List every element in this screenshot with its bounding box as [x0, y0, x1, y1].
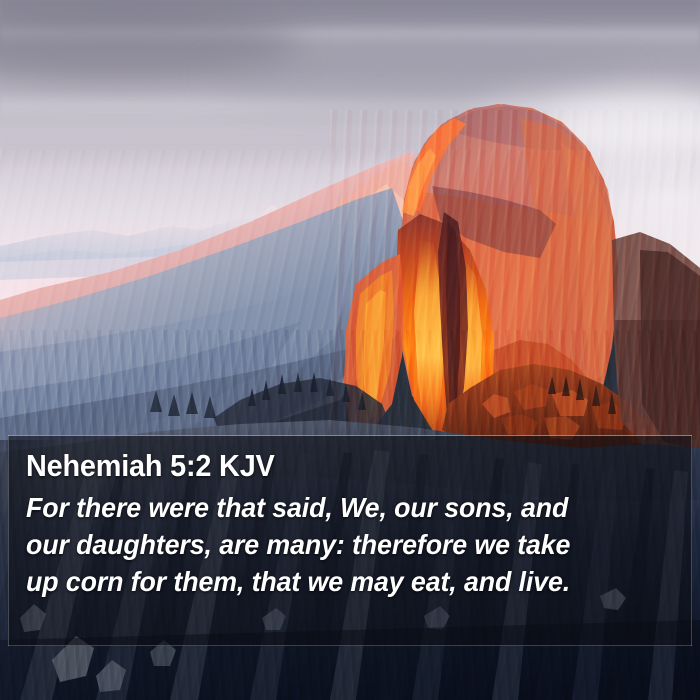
verse-line-1: For there were that said, We, our sons, …: [26, 489, 649, 526]
verse-caption-overlay: Nehemiah 5:2 KJV For there were that sai…: [8, 435, 692, 646]
verse-reference: Nehemiah 5:2 KJV: [26, 447, 632, 485]
verse-line-3: up corn for them, that we may eat, and l…: [26, 563, 649, 600]
verse-text: For there were that said, We, our sons, …: [26, 489, 678, 600]
verse-line-2: our daughters, are many: therefore we ta…: [26, 526, 649, 563]
verse-image-card: Nehemiah 5:2 KJV For there were that sai…: [0, 0, 700, 700]
